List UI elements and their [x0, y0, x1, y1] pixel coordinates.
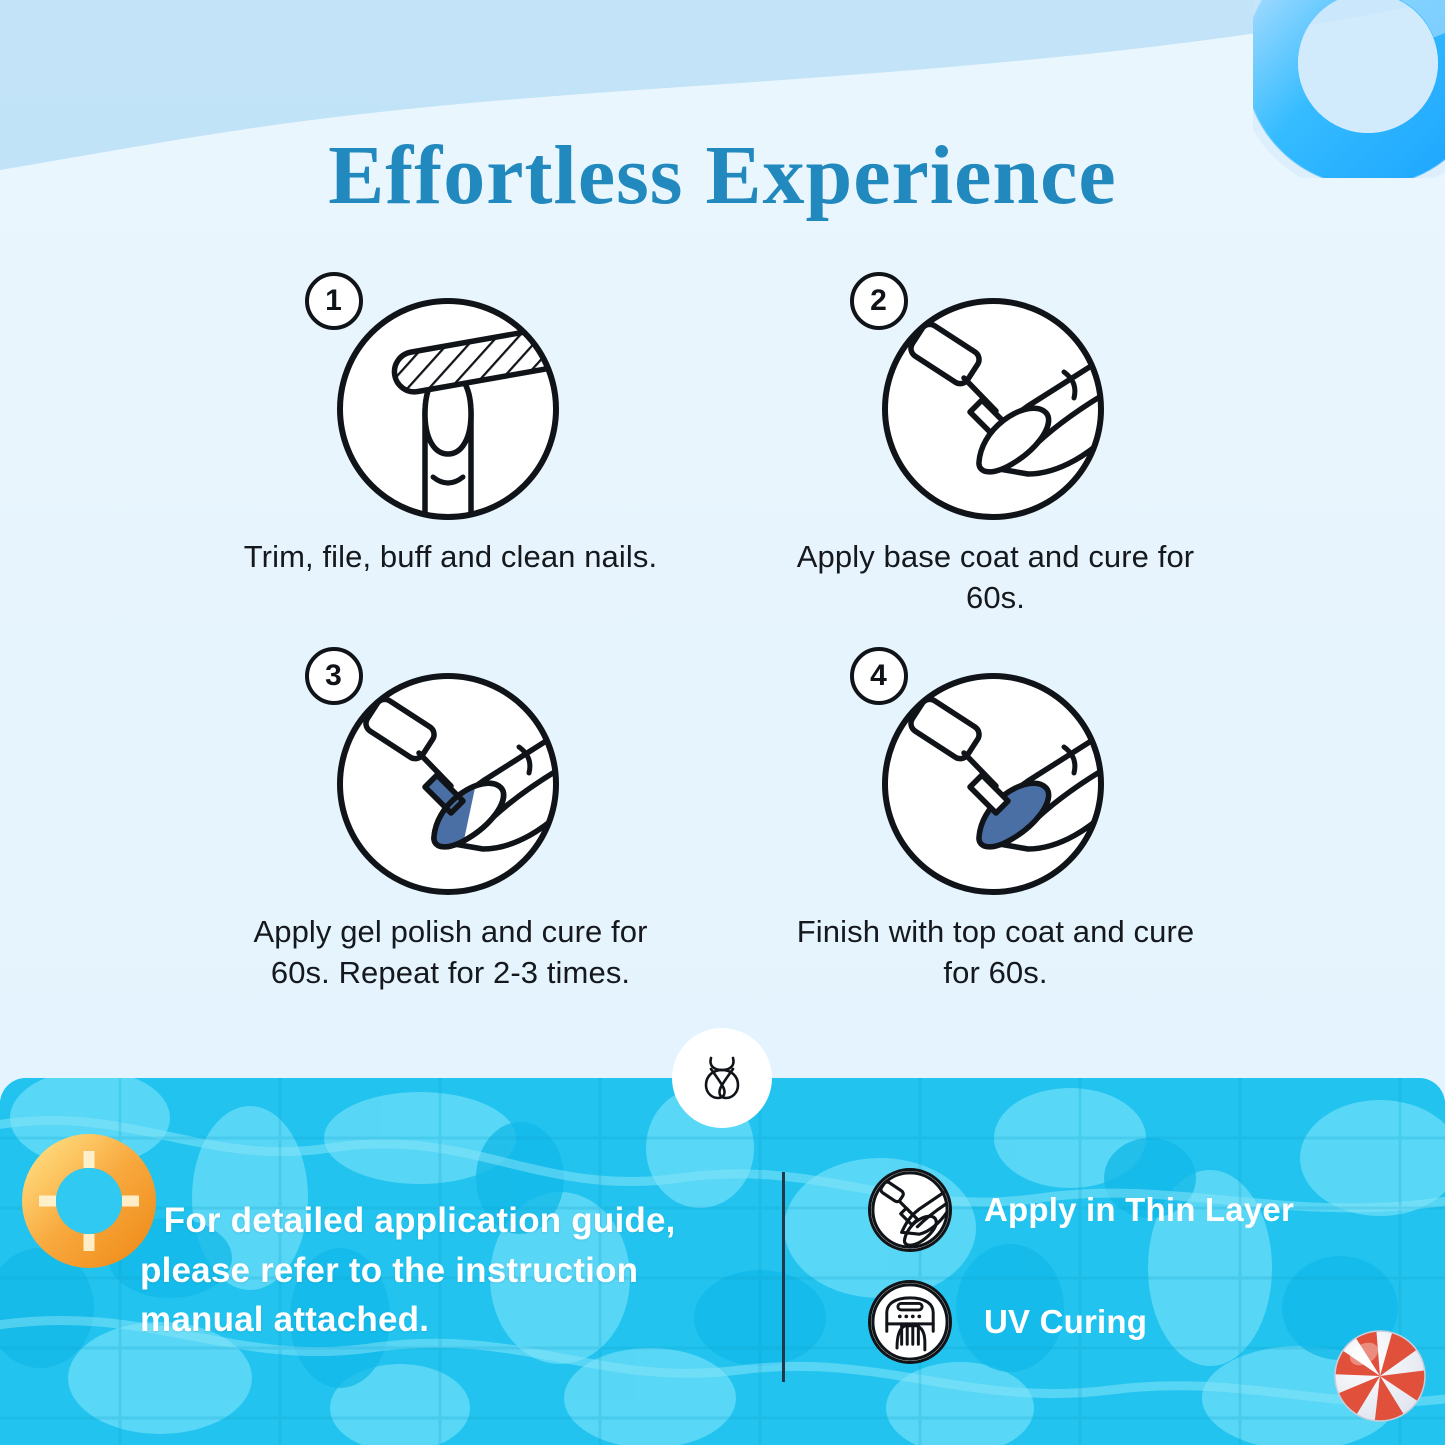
step-3-art: 3 [301, 647, 601, 902]
step-2-caption: Apply base coat and cure for 60s. [781, 537, 1211, 619]
beach-ball-bottom-right-icon [1322, 1318, 1438, 1434]
step-3-caption: Apply gel polish and cure for 60s. Repea… [236, 912, 666, 994]
step-4-art: 4 [846, 647, 1146, 902]
step-number-badge-1: 1 [305, 272, 363, 330]
banner-divider [782, 1172, 785, 1382]
brush-gel-polish-icon [333, 669, 563, 899]
nail-file-icon [333, 294, 563, 524]
steps-grid: 1 [178, 272, 1268, 994]
feature-item-thin-layer: Apply in Thin Layer [868, 1168, 1294, 1252]
page-title: Effortless Experience [0, 134, 1445, 218]
step-1-caption: Trim, file, buff and clean nails. [236, 537, 666, 578]
step-item-3: 3 [178, 647, 723, 994]
step-item-1: 1 [178, 272, 723, 619]
step-item-4: 4 Finish w [723, 647, 1268, 994]
brush-top-coat-icon [878, 669, 1108, 899]
brush-base-coat-icon [878, 294, 1108, 524]
thin-layer-brush-icon [868, 1168, 952, 1252]
feature-item-uv-curing: UV Curing [868, 1280, 1294, 1364]
application-guide-note: * For detailed application guide, please… [140, 1196, 740, 1345]
step-item-2: 2 [723, 272, 1268, 619]
brand-logo-badge [672, 1028, 772, 1128]
uv-lamp-icon [868, 1280, 952, 1364]
infographic-page: Effortless Experience 1 [0, 0, 1445, 1445]
step-number-badge-3: 3 [305, 647, 363, 705]
feature-list: Apply in Thin Layer [868, 1168, 1294, 1364]
step-number-badge-4: 4 [850, 647, 908, 705]
step-1-art: 1 [301, 272, 601, 527]
feature-label-uv-curing: UV Curing [984, 1303, 1147, 1341]
feature-label-thin-layer: Apply in Thin Layer [984, 1191, 1294, 1229]
brand-loops-logo-icon [693, 1049, 751, 1107]
life-ring-bottom-left-icon [16, 1128, 162, 1274]
step-2-art: 2 [846, 272, 1146, 527]
step-number-badge-2: 2 [850, 272, 908, 330]
step-4-caption: Finish with top coat and cure for 60s. [781, 912, 1211, 994]
